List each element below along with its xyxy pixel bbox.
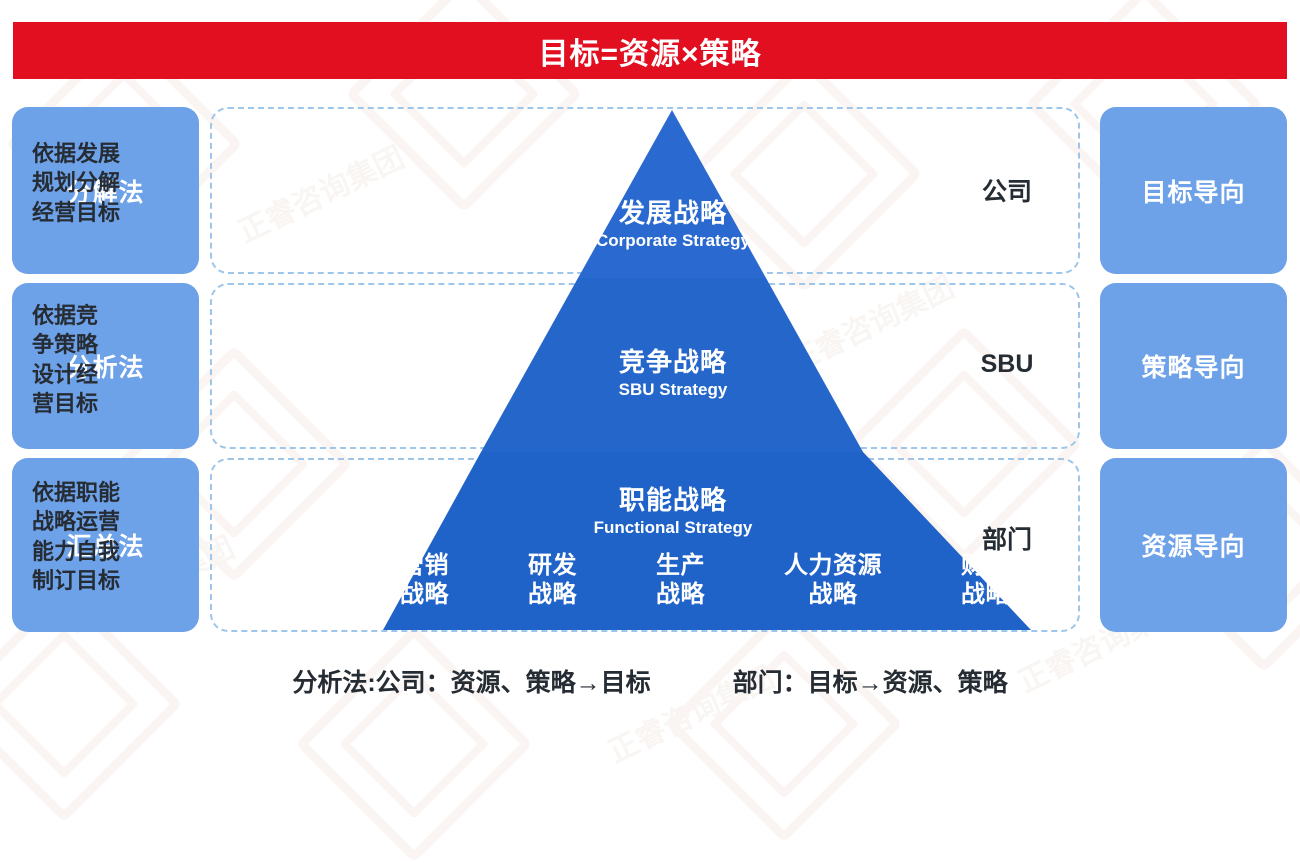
footer-note-department: 部门：目标→资源、策略 [733,663,1008,699]
pyramid-label-sbu: 竞争战略 SBU Strategy [463,347,883,400]
orientation-box-goal[interactable]: 目标导向 [1100,107,1287,274]
footer-notes: 分析法:公司：资源、策略→目标 部门：目标→资源、策略 [0,663,1300,699]
pyramid-label-corporate-en: Corporate Strategy [463,230,883,251]
pyramid-label-sbu-en: SBU Strategy [463,379,883,400]
tier-level-company: 公司 [952,172,1062,208]
pyramid-label-functional-cn: 职能战略 [463,485,883,516]
tier-description-functional: 依据职能 战略运营 能力自我 制订目标 [32,478,120,595]
orientation-box-resource[interactable]: 资源导向 [1100,458,1287,632]
pyramid-label-corporate: 发展战略 Corporate Strategy [463,198,883,251]
orientation-box-strategy[interactable]: 策略导向 [1100,283,1287,449]
sub-strategy-rnd: 研发 战略 [528,551,577,610]
pyramid-label-sbu-cn: 竞争战略 [463,347,883,378]
tier-description-sbu: 依据竞 争策略 设计经 营目标 [32,301,98,418]
pyramid-label-functional-en: Functional Strategy [463,517,883,538]
footer-note-company: 分析法:公司：资源、策略→目标 [292,663,650,699]
tier-level-department: 部门 [952,520,1062,556]
tier-description-corporate: 依据发展 规划分解 经营目标 [32,139,120,227]
sub-strategy-finance: 财务 战略 [961,551,1010,610]
sub-strategy-marketing: 营销 战略 [400,551,449,610]
pyramid-label-corporate-cn: 发展战略 [463,198,883,229]
page-title: 目标=资源×策略 [13,22,1287,79]
header-banner: 目标=资源×策略 [13,22,1287,79]
sub-strategy-hr: 人力资源 战略 [784,551,882,610]
tier-level-sbu: SBU [952,350,1062,379]
sub-strategy-production: 生产 战略 [656,551,705,610]
pyramid-label-functional: 职能战略 Functional Strategy [463,485,883,538]
sub-strategy-row: 营销 战略 研发 战略 生产 战略 人力资源 战略 财务 战略 [400,551,1010,625]
